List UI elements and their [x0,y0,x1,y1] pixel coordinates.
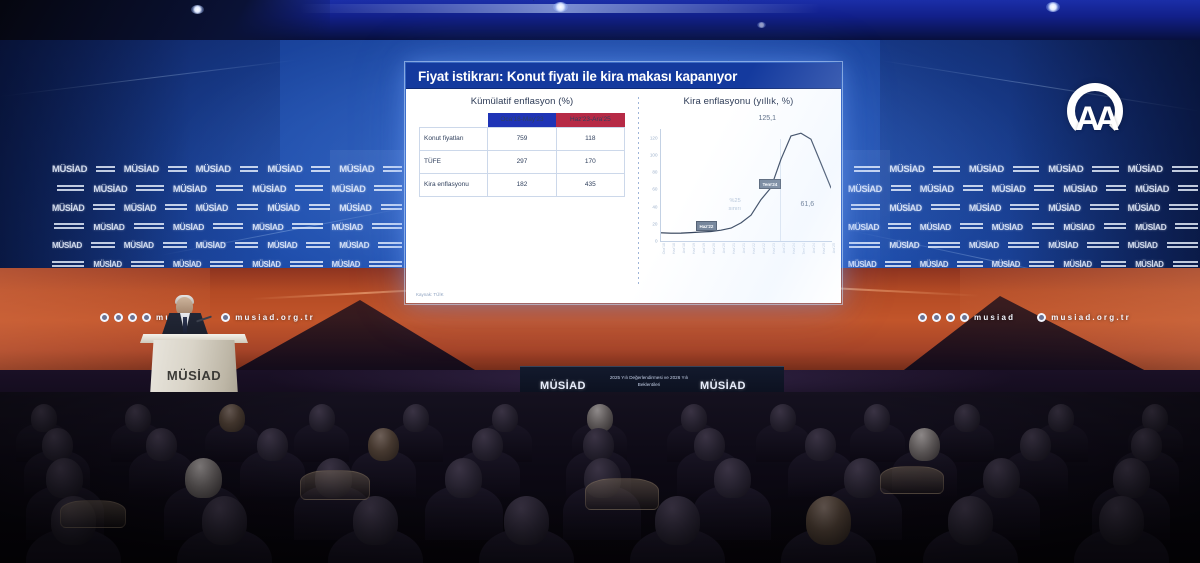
backdrop-logo-text: MÜSİAD [339,203,371,213]
chart-y-tick: 0 [655,239,658,244]
chart-x-tick: Haz'23 [772,243,776,254]
audience-member-head [368,428,399,461]
rent-inflation-chart: 020406080100120 125,1 61,6 Haz'22 Tem'24… [641,113,837,285]
backdrop-logo-slogan [957,261,982,268]
chart-axis-x [660,241,832,242]
table-cell: 182 [488,173,556,196]
chart-x-tick: Ara'24 [812,243,816,253]
backdrop-logo-slogan [131,261,164,268]
globe-icon [221,313,230,322]
chart-badge-tem24: Tem'24 [759,179,782,189]
backdrop-logo-slogan [57,185,85,192]
table-cell: 435 [556,173,624,196]
chart-x-tick: Ara'23 [782,243,786,253]
backdrop-logo-text: MÜSİAD [992,184,1026,194]
audience-member-head [445,458,482,498]
backdrop-logo-slogan [165,204,186,211]
backdrop-logo-slogan [1175,223,1198,230]
backdrop-logo-row: MÜSİADMÜSİADMÜSİADMÜSİADMÜSİAD [52,160,402,179]
audience-member-head [257,428,288,461]
chart-limit-note-1: %25 [730,197,741,205]
backdrop-logo-slogan [1010,204,1039,211]
chair-back [300,470,370,500]
backdrop-logo-text: MÜSİAD [1063,222,1094,232]
audience-member-head [909,428,940,461]
backdrop-logo-text: MÜSİAD [969,241,999,250]
chart-y-tick: 40 [652,204,657,209]
backdrop-logo-slogan [1013,166,1039,173]
slide-body: Kümülatif enflasyon (%) Oca'18-May'23 Ha… [406,89,841,303]
table-row: Kira enflasyonu182435 [420,173,625,196]
audience-member-head [1113,458,1150,498]
backdrop-logo-slogan [311,166,330,173]
audience-member-head [1020,428,1051,461]
table-header-row: Oca'18-May'23 Haz'23-Ara'25 [420,113,625,127]
chart-x-tick: Ara'25 [832,243,836,253]
ceiling-shadow [0,0,330,40]
chair-back [880,466,944,494]
audience-member-head [1131,428,1162,461]
backdrop-logo-text: MÜSİAD [267,203,299,213]
table-cell: 297 [488,150,556,173]
backdrop-logo-slogan [96,166,115,173]
backdrop-logo-slogan [1090,204,1119,211]
backdrop-logo-slogan [1034,185,1054,192]
chart-x-tick: Ara'21 [742,243,746,253]
backdrop-logo-slogan [168,166,187,173]
backdrop-logo-slogan [372,223,402,230]
backdrop-logo-text: MÜSİAD [889,241,919,250]
backdrop-logo-slogan [54,223,84,230]
youtube-icon [960,313,969,322]
backdrop-logo-slogan [383,166,402,173]
chart-y-tick: 80 [652,170,657,175]
audience-member-head [805,428,836,461]
backdrop-logo-slogan [1101,261,1126,268]
audience-member-head [844,458,881,498]
audience-member-head [948,496,993,545]
backdrop-logo-text: MÜSİAD [920,222,951,232]
backdrop-logo-slogan [1092,166,1118,173]
audience-member-head [472,428,503,461]
backdrop-logo-text: MÜSİAD [848,184,882,194]
chart-x-tick: Haz'20 [712,243,716,254]
audience-member-head [185,458,222,498]
audience-member-head [983,458,1020,498]
audience-member-head [694,428,725,461]
head-table-event-text: 2025 Yılı Değerlendirmesi ve 2026 Yılı B… [601,374,697,388]
audience-member-head [714,458,751,498]
website-left: musiad.org.tr [235,313,315,322]
backdrop-logo-row: MÜSİADMÜSİADMÜSİADMÜSİADMÜSİAD [848,236,1198,255]
backdrop-logo-slogan [1178,185,1198,192]
backdrop-logo-text: MÜSİAD [196,203,228,213]
backdrop-logo-text: MÜSİAD [339,164,374,175]
twitter-icon [114,313,123,322]
backdrop-logo-text: MÜSİAD [124,241,154,250]
backdrop-logo-text: MÜSİAD [889,203,921,213]
backdrop-logo-text: MÜSİAD [1128,241,1158,250]
table-row: TÜFE297170 [420,150,625,173]
audience-member-head [219,404,245,432]
chart-x-tick: Haz'25 [822,243,826,254]
backdrop-logo-text: MÜSİAD [848,222,879,232]
backdrop-logo-slogan [1008,242,1040,249]
chart-x-axis-labels: Oca'18Haz'18Ara'18Haz'19Ara'19Haz'20Ara'… [661,243,831,279]
backdrop-logo-slogan [1169,204,1198,211]
backdrop-logo-text: MÜSİAD [267,241,297,250]
backdrop-logo-text: MÜSİAD [889,164,924,175]
backdrop-logo-pattern-left: MÜSİADMÜSİADMÜSİADMÜSİADMÜSİADMÜSİADMÜSİ… [52,160,402,275]
backdrop-logo-text: MÜSİAD [339,241,369,250]
backdrop-logo-row: MÜSİADMÜSİADMÜSİADMÜSİADMÜSİAD [848,179,1198,198]
audience-member-head [806,496,851,545]
table-header-blank [420,113,488,127]
backdrop-logo-row: MÜSİADMÜSİADMÜSİADMÜSİADMÜSİAD [52,217,402,236]
youtube-icon [142,313,151,322]
instagram-icon [946,313,955,322]
backdrop-logo-slogan [295,185,323,192]
backdrop-logo-text: MÜSİAD [920,184,954,194]
backdrop-logo-text: MÜSİAD [332,222,363,232]
backdrop-logo-row: MÜSİADMÜSİADMÜSİADMÜSİADMÜSİAD [52,236,402,255]
table-row-label: Konut fiyatları [420,127,488,150]
table-row-label: Kira enflasyonu [420,173,488,196]
backdrop-logo-text: MÜSİAD [1048,241,1078,250]
backdrop-logo-slogan [1104,223,1127,230]
backdrop-logo-row: MÜSİADMÜSİADMÜSİADMÜSİADMÜSİAD [848,160,1198,179]
backdrop-logo-slogan [854,166,880,173]
chart-x-tick: Oca'18 [662,243,666,254]
backdrop-logo-text: MÜSİAD [1063,184,1097,194]
backdrop-logo-row: MÜSİADMÜSİADMÜSİADMÜSİADMÜSİAD [52,198,402,217]
slide-title: Fiyat istikrarı: Konut fiyatı ile kira m… [406,63,841,89]
audience-member-head [403,404,429,432]
backdrop-logo-slogan [888,223,911,230]
backdrop-logo-slogan [933,166,959,173]
backdrop-social-right: musiad musiad.org.tr [918,313,1131,322]
backdrop-logo-slogan [213,223,243,230]
backdrop-logo-slogan [849,242,881,249]
backdrop-logo-slogan [292,223,322,230]
backdrop-logo-text: MÜSİAD [1135,222,1166,232]
social-handle-right: musiad [974,313,1015,322]
website-right: musiad.org.tr [1051,313,1131,322]
backdrop-logo-text: MÜSİAD [267,164,302,175]
chart-limit-note-2: sınırı [729,205,741,213]
audience-member-head [492,404,518,432]
audience-member-head [42,428,73,461]
table-cell: 118 [556,127,624,150]
audience-member-head [125,404,151,432]
chart-y-tick: 100 [650,152,658,157]
backdrop-logo-slogan [1167,242,1198,249]
backdrop-logo-slogan [309,204,330,211]
chart-x-tick: Haz'21 [732,243,736,254]
chart-y-tick: 20 [652,221,657,226]
backdrop-logo-text: MÜSİAD [252,184,286,194]
audience-member-head [202,496,247,545]
backdrop-logo-slogan [210,261,243,268]
twitter-icon [932,313,941,322]
table-header-period-2: Haz'23-Ara'25 [556,113,624,127]
backdrop-logo-slogan [1029,261,1054,268]
audience-member-head [864,404,890,432]
chart-x-tick: Ara'18 [682,243,686,253]
chart-y-axis: 020406080100120 [641,129,660,241]
backdrop-logo-slogan [374,185,402,192]
speaker-tie [183,317,187,333]
audience-member-head [655,496,700,545]
source-note: Kaynak: TÜİK [416,292,444,297]
backdrop-logo-text: MÜSİAD [173,184,207,194]
backdrop-logo-slogan [1172,166,1198,173]
backdrop-logo-slogan [378,242,402,249]
chart-peak-label: 125,1 [759,115,777,122]
spotlight [553,2,568,12]
chart-x-tick: Tem'24 [802,243,806,254]
chart-y-tick: 120 [650,135,658,140]
backdrop-logo-slogan [290,261,323,268]
table-cell: 759 [488,127,556,150]
chart-end-label: 61,6 [801,201,815,208]
audience-member-head [954,404,980,432]
backdrop-logo-text: MÜSİAD [1128,164,1163,175]
slide-pane-left: Kümülatif enflasyon (%) Oca'18-May'23 Ha… [406,89,638,303]
podium-logo-text: MÜSİAD [148,368,240,383]
backdrop-logo-slogan [369,261,402,268]
backdrop-logo-slogan [136,185,164,192]
backdrop-logo-slogan [928,242,960,249]
backdrop-logo-text: MÜSİAD [124,164,159,175]
chart-x-tick: Haz'18 [672,243,676,254]
audience-member-head [353,496,398,545]
backdrop-logo-text: MÜSİAD [252,222,283,232]
spotlight [757,22,766,28]
backdrop-logo-slogan [1106,185,1126,192]
audience-member-head [146,428,177,461]
backdrop-logo-row: MÜSİADMÜSİADMÜSİADMÜSİADMÜSİAD [848,217,1198,236]
chart-x-tick: Ara'22 [762,243,766,253]
backdrop-logo-slogan [235,242,259,249]
backdrop-logo-slogan [963,185,983,192]
table-row: Konut fiyatları759118 [420,127,625,150]
backdrop-logo-text: MÜSİAD [124,203,156,213]
chart-x-tick: Ara'20 [722,243,726,253]
backdrop-logo-text: MÜSİAD [196,241,226,250]
head-table-logo-right: MÜSİAD [700,380,746,392]
facebook-icon [918,313,927,322]
backdrop-logo-pattern-right: MÜSİADMÜSİADMÜSİADMÜSİADMÜSİADMÜSİADMÜSİ… [848,160,1198,275]
backdrop-logo-text: MÜSİAD [969,203,1001,213]
backdrop-logo-text: MÜSİAD [173,222,204,232]
backdrop-logo-text: MÜSİAD [52,203,84,213]
chart-badge-haz22: Haz'22 [696,221,718,231]
backdrop-logo-slogan [931,204,960,211]
backdrop-logo-slogan [851,204,880,211]
slide-pane-right: Kira enflasyonu (yıllık, %) 020406080100… [638,89,841,303]
backdrop-logo-text: MÜSİAD [1135,184,1169,194]
backdrop-logo-slogan [216,185,244,192]
backdrop-logo-slogan [1087,242,1119,249]
left-pane-heading: Kümülatif enflasyon (%) [412,96,632,107]
audience-member-head [46,458,83,498]
table-row-label: TÜFE [420,150,488,173]
backdrop-logo-slogan [237,204,258,211]
chart-x-tick: Ara'19 [702,243,706,253]
backdrop-logo-text: MÜSİAD [1048,164,1083,175]
backdrop-logo-text: MÜSİAD [52,241,82,250]
aa-logo-text: AA [1056,100,1134,139]
backdrop-logo-slogan [306,242,330,249]
aa-logo: AA [1056,83,1134,153]
right-pane-heading: Kira enflasyonu (yıllık, %) [640,96,837,107]
backdrop-logo-text: MÜSİAD [93,222,124,232]
backdrop-logo-slogan [960,223,983,230]
chair-back [60,500,126,528]
projection-screen: Fiyat istikrarı: Konut fiyatı ile kira m… [406,63,841,303]
broadcast-frame: MÜSİADMÜSİADMÜSİADMÜSİADMÜSİADMÜSİADMÜSİ… [0,0,1200,563]
backdrop-logo-row: MÜSİADMÜSİADMÜSİADMÜSİADMÜSİAD [848,198,1198,217]
backdrop-logo-slogan [1032,223,1055,230]
chart-plot-area [661,129,831,241]
chart-line-svg [661,129,831,241]
audience-member-head [504,496,549,545]
audience-member-head [309,404,335,432]
backdrop-logo-slogan [381,204,402,211]
chart-x-tick: Haz'19 [692,243,696,254]
backdrop-logo-slogan [93,204,114,211]
chart-x-tick: Haz'22 [752,243,756,254]
backdrop-logo-row: MÜSİADMÜSİADMÜSİADMÜSİADMÜSİAD [52,179,402,198]
audience-member-head [770,404,796,432]
spotlight [1046,2,1060,12]
backdrop-logo-text: MÜSİAD [1048,203,1080,213]
backdrop-logo-slogan [163,242,187,249]
backdrop-logo-text: MÜSİAD [992,222,1023,232]
backdrop-logo-slogan [52,261,84,268]
backdrop-logo-text: MÜSİAD [332,184,366,194]
backdrop-logo-text: MÜSİAD [196,164,231,175]
backdrop-logo-text: MÜSİAD [93,184,127,194]
table-cell: 170 [556,150,624,173]
spotlight [191,5,204,14]
audience-member-head [1099,496,1144,545]
chair-back [585,478,659,510]
instagram-icon [128,313,137,322]
audience-member-head [583,428,614,461]
audience-member-head [681,404,707,432]
chart-y-tick: 60 [652,187,657,192]
chart-x-tick: Haz'24 [792,243,796,254]
head-table-logo-left: MÜSİAD [540,380,586,392]
backdrop-logo-slogan [891,185,911,192]
backdrop-logo-slogan [240,166,259,173]
backdrop-logo-slogan [885,261,910,268]
backdrop-logo-text: MÜSİAD [1128,203,1160,213]
audience-member-head [1048,404,1074,432]
backdrop-logo-slogan [91,242,115,249]
backdrop-logo-text: MÜSİAD [52,164,87,175]
globe-icon [1037,313,1046,322]
cumulative-inflation-table: Oca'18-May'23 Haz'23-Ara'25 Konut fiyatl… [419,113,625,197]
backdrop-logo-slogan [134,223,164,230]
facebook-icon [100,313,109,322]
backdrop-logo-text: MÜSİAD [969,164,1004,175]
backdrop-logo-slogan [1173,261,1198,268]
table-header-period-1: Oca'18-May'23 [488,113,556,127]
